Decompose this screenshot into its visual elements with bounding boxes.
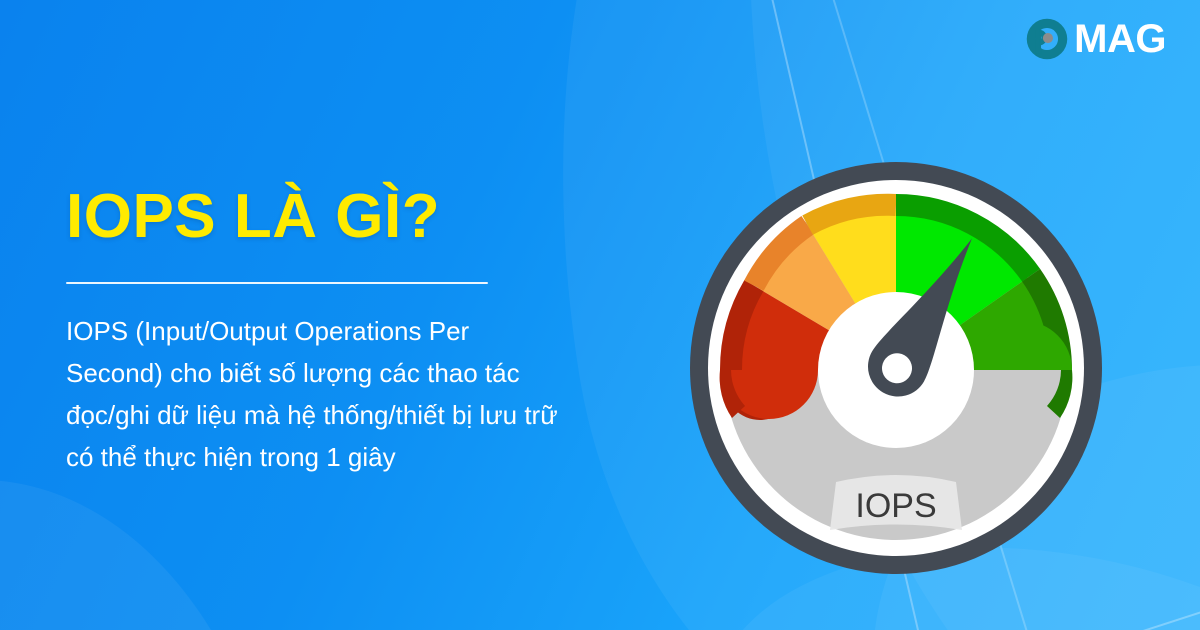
gauge-graphic: IOPS xyxy=(688,160,1104,576)
pmag-circle-logo-icon xyxy=(1024,16,1070,62)
page-title: IOPS LÀ GÌ? xyxy=(66,184,566,250)
background-line-4 xyxy=(875,618,1200,630)
hero-copy: IOPS LÀ GÌ? IOPS (Input/Output Operation… xyxy=(66,184,566,478)
brand-logo-text: MAG xyxy=(1074,19,1166,59)
gauge-label-text: IOPS xyxy=(855,487,936,525)
hero-description: IOPS (Input/Output Operations Per Second… xyxy=(66,310,566,478)
gauge-label-plaque: IOPS xyxy=(830,475,962,530)
background-swoosh-3 xyxy=(0,480,290,630)
iops-gauge: IOPS xyxy=(688,160,1104,576)
brand-logo: MAG xyxy=(1024,16,1166,62)
title-divider xyxy=(66,282,488,284)
